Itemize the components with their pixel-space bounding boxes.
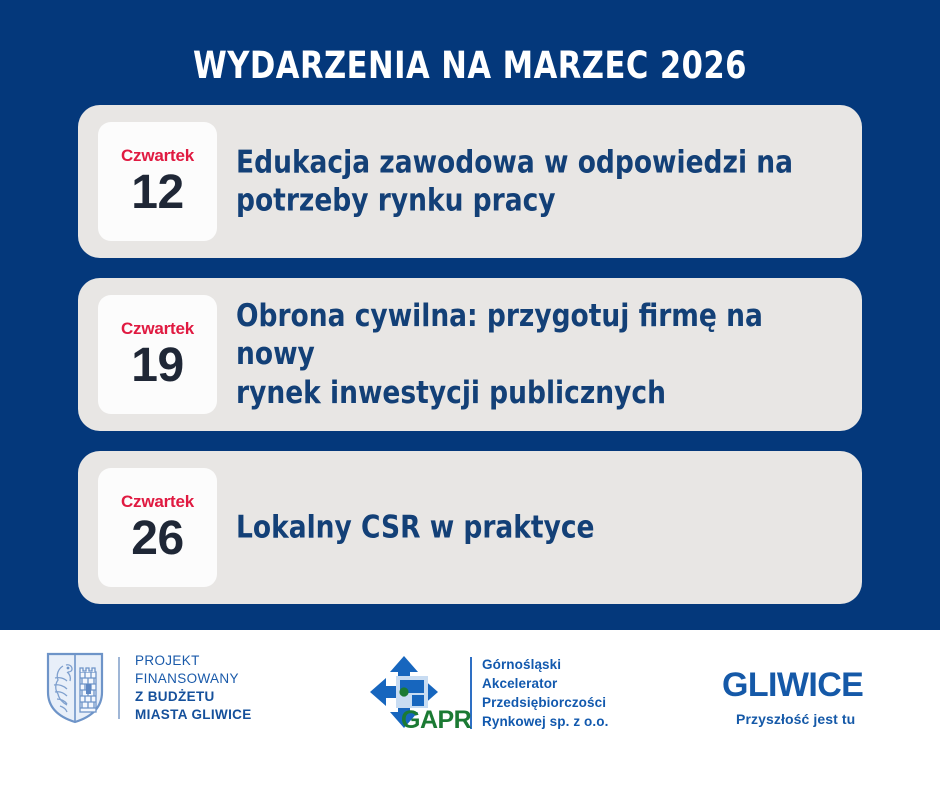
event-title: Lokalny CSR w praktyce xyxy=(236,508,828,547)
gapr-wordmark: GAPR xyxy=(401,708,471,733)
date-weekday: Czwartek xyxy=(121,493,194,510)
date-weekday: Czwartek xyxy=(121,147,194,164)
gliwice-wordmark: GLIWICE xyxy=(722,668,863,702)
gliwice-brand-logo: GLIWICE Przyszłość jest tu xyxy=(722,668,863,726)
list-item[interactable]: Czwartek 19 Obrona cywilna: przygotuj fi… xyxy=(78,278,862,431)
budget-funding-logo: PROJEKT FINANSOWANY Z BUDŻETU MIASTA GLI… xyxy=(46,652,252,724)
event-list: Czwartek 12 Edukacja zawodowa w odpowied… xyxy=(78,105,862,624)
divider xyxy=(118,657,120,719)
date-day-number: 12 xyxy=(131,169,183,217)
event-title: Obrona cywilna: przygotuj firmę na nowy … xyxy=(236,296,828,412)
gapr-line-2: Akcelerator xyxy=(482,674,608,693)
date-badge: Czwartek 12 xyxy=(98,122,217,241)
gapr-line-4: Rynkowej sp. z o.o. xyxy=(482,712,608,731)
date-day-number: 19 xyxy=(131,342,183,390)
event-title-line: Edukacja zawodowa w odpowiedzi na xyxy=(236,143,798,182)
date-day-number: 26 xyxy=(131,515,183,563)
event-title-line: potrzeby rynku pracy xyxy=(236,182,798,221)
gliwice-tagline: Przyszłość jest tu xyxy=(736,712,863,726)
list-item[interactable]: Czwartek 26 Lokalny CSR w praktyce xyxy=(78,451,862,604)
gapr-logo: GAPR Górnośląski Akcelerator Przedsiębio… xyxy=(368,654,608,732)
budget-logo-text: PROJEKT FINANSOWANY Z BUDŻETU MIASTA GLI… xyxy=(135,652,252,724)
event-poster: WYDARZENIA NA MARZEC 2026 Czwartek 12 Ed… xyxy=(0,0,940,788)
budget-line-2: FINANSOWANY xyxy=(135,670,252,688)
gapr-line-3: Przedsiębiorczości xyxy=(482,693,608,712)
gliwice-coat-of-arms-icon xyxy=(46,652,104,724)
event-title-line: Lokalny CSR w praktyce xyxy=(236,508,798,547)
gapr-mark: GAPR xyxy=(368,654,464,732)
event-title: Edukacja zawodowa w odpowiedzi na potrze… xyxy=(236,143,828,221)
budget-line-1: PROJEKT xyxy=(135,652,252,670)
date-weekday: Czwartek xyxy=(121,320,194,337)
list-item[interactable]: Czwartek 12 Edukacja zawodowa w odpowied… xyxy=(78,105,862,258)
date-badge: Czwartek 19 xyxy=(98,295,217,414)
footer-logo-bar: PROJEKT FINANSOWANY Z BUDŻETU MIASTA GLI… xyxy=(0,630,940,788)
gapr-line-1: Górnośląski xyxy=(482,655,608,674)
gapr-logo-text: Górnośląski Akcelerator Przedsiębiorczoś… xyxy=(482,655,608,732)
budget-line-4: MIASTA GLIWICE xyxy=(135,706,252,724)
event-title-line: Obrona cywilna: przygotuj firmę na nowy xyxy=(236,296,798,374)
page-title: WYDARZENIA NA MARZEC 2026 xyxy=(38,44,903,87)
budget-line-3: Z BUDŻETU xyxy=(135,688,252,706)
event-title-line: rynek inwestycji publicznych xyxy=(236,374,798,413)
date-badge: Czwartek 26 xyxy=(98,468,217,587)
